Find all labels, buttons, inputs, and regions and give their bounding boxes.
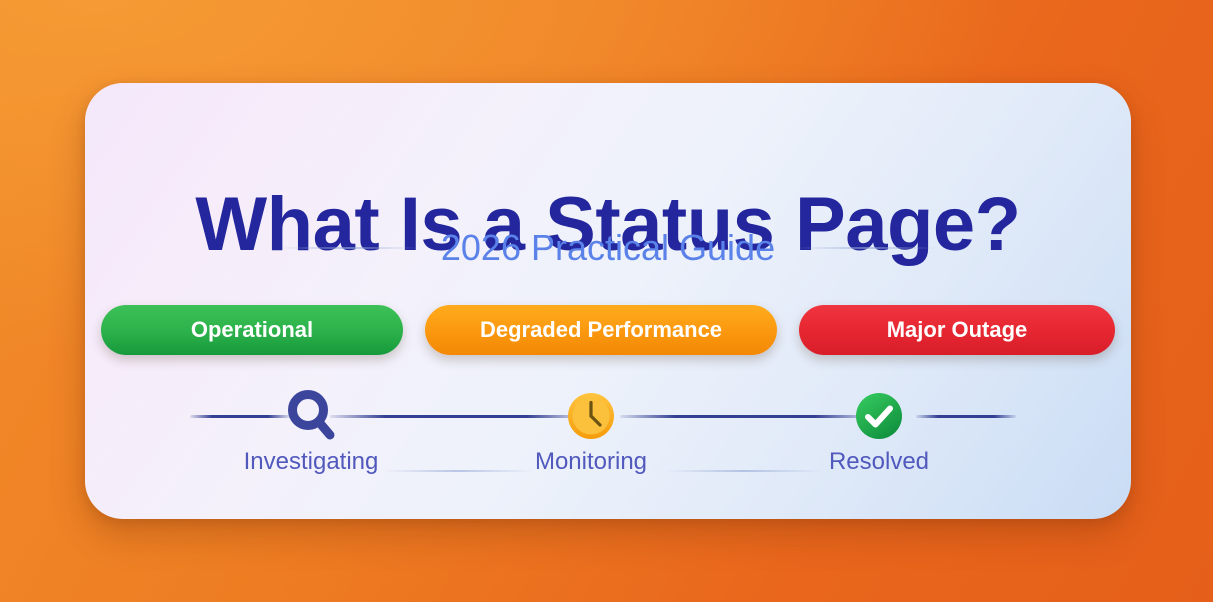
status-pill-major-outage-label: Major Outage (887, 317, 1028, 343)
check-circle-icon (854, 388, 904, 444)
incident-timeline: Investigating (190, 388, 1016, 488)
clock-icon (566, 388, 616, 444)
timeline-stage-monitoring[interactable]: Monitoring (506, 388, 676, 476)
subtitle-row: 2026 Practical Guide (85, 230, 1131, 266)
poster-canvas: What Is a Status Page? 2026 Practical Gu… (0, 0, 1213, 602)
timeline-stage-investigating[interactable]: Investigating (226, 388, 396, 476)
status-pill-major-outage[interactable]: Major Outage (799, 305, 1115, 355)
content-card: What Is a Status Page? 2026 Practical Gu… (85, 83, 1131, 519)
page-subtitle: 2026 Practical Guide (441, 230, 775, 266)
subtitle-rule-left (279, 247, 419, 249)
subtitle-rule-right (797, 247, 937, 249)
timeline-stage-monitoring-label: Monitoring (535, 448, 647, 476)
status-pill-degraded-performance-label: Degraded Performance (480, 317, 722, 343)
status-pill-operational-label: Operational (191, 317, 313, 343)
magnifying-glass-icon (285, 388, 337, 444)
timeline-stage-resolved[interactable]: Resolved (794, 388, 964, 476)
status-pill-degraded-performance[interactable]: Degraded Performance (425, 305, 777, 355)
timeline-stage-investigating-label: Investigating (244, 448, 379, 476)
status-pill-operational[interactable]: Operational (101, 305, 403, 355)
status-pill-row: Operational Degraded Performance Major O… (85, 305, 1131, 355)
timeline-stage-resolved-label: Resolved (829, 448, 929, 476)
